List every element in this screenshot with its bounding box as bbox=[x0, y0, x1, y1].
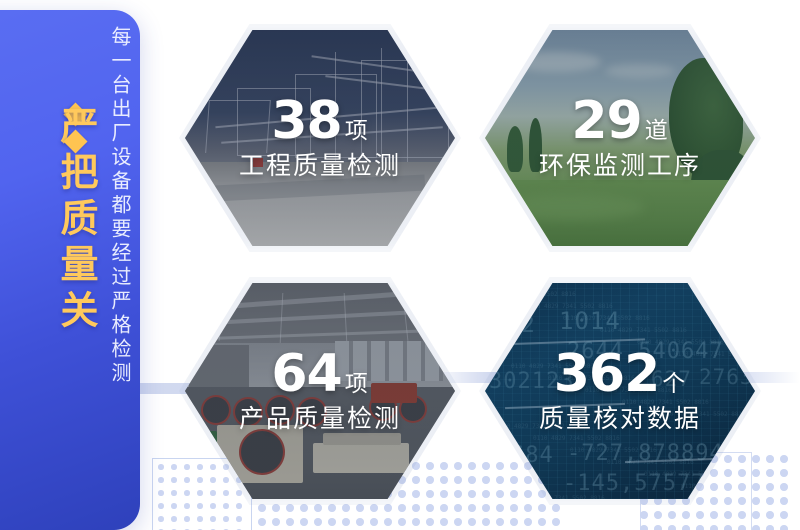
hex-number-3: 64 bbox=[271, 350, 341, 399]
left-blue-panel: 每一台出厂设备都要经过严格检测 严把质量关 bbox=[0, 10, 140, 530]
hex-card-content-2: 29 道 环保监测工序 bbox=[485, 30, 755, 246]
hex-number-line-3: 64 项 bbox=[271, 350, 368, 399]
hex-number-2: 29 bbox=[571, 97, 641, 146]
hex-caption-1: 工程质量检测 bbox=[239, 152, 401, 180]
hex-caption-4: 质量核对数据 bbox=[539, 405, 701, 433]
panel-title-block: 严把质量关 bbox=[67, 106, 84, 150]
hex-number-4: 362 bbox=[554, 350, 660, 399]
hex-unit-4: 个 bbox=[662, 364, 686, 398]
banner-stage: 每一台出厂设备都要经过严格检测 严把质量关 bbox=[0, 0, 800, 530]
hex-caption-2: 环保监测工序 bbox=[539, 152, 701, 180]
hex-number-line-2: 29 道 bbox=[571, 97, 668, 146]
hex-card-engineering-quality[interactable]: 38 项 工程质量检测 bbox=[185, 30, 455, 246]
hex-unit-2: 道 bbox=[645, 111, 669, 145]
hex-number-1: 38 bbox=[271, 97, 341, 146]
hex-caption-3: 产品质量检测 bbox=[239, 405, 401, 433]
hex-number-line-1: 38 项 bbox=[271, 97, 368, 146]
panel-subline: 每一台出厂设备都要经过严格检测 bbox=[110, 26, 130, 524]
hex-card-environmental-monitoring[interactable]: 29 道 环保监测工序 bbox=[485, 30, 755, 246]
hex-card-content-1: 38 项 工程质量检测 bbox=[185, 30, 455, 246]
hex-unit-1: 项 bbox=[345, 111, 369, 145]
panel-inner: 每一台出厂设备都要经过严格检测 严把质量关 bbox=[0, 10, 140, 530]
hex-number-line-4: 362 个 bbox=[554, 350, 687, 399]
hex-unit-3: 项 bbox=[345, 364, 369, 398]
